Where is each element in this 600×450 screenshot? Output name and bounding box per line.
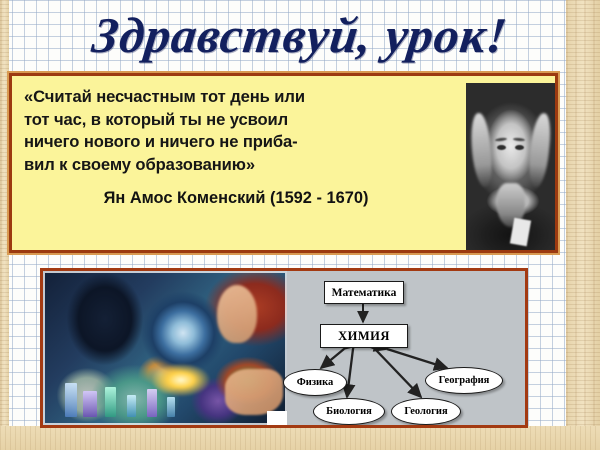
node-biologiya: Биология — [313, 398, 385, 425]
komensky-portrait-image — [466, 83, 555, 250]
chemistry-relations-diagram: Математика ХИМИЯ Физика Биология Геологи… — [287, 271, 525, 425]
node-fizika: Физика — [283, 369, 347, 396]
page-title: Здравствуй, урок! — [0, 2, 600, 68]
photo-corner-cut — [267, 411, 287, 425]
quote-line-2: тот час, в который ты не усвоил — [24, 109, 452, 132]
node-geologiya: Геология — [391, 398, 461, 425]
portrait-hair-right — [526, 112, 553, 188]
bottom-panel: Математика ХИМИЯ Физика Биология Геологи… — [40, 268, 528, 428]
arrow-chem-biologiya — [347, 349, 353, 397]
bottom-paper-strip — [0, 426, 600, 450]
portrait-collar — [510, 218, 531, 247]
node-himiya: ХИМИЯ — [320, 324, 408, 348]
slide-canvas: Здравствуй, урок! «Считай несчастным тот… — [0, 0, 600, 450]
portrait-brow-left — [495, 137, 507, 141]
quote-line-3: ничего нового и ничего не приба- — [24, 131, 452, 154]
quote-line-4-text: вил к своему образованию» — [24, 155, 255, 174]
portrait-hair-left — [468, 112, 495, 188]
portrait-eye-right — [515, 145, 524, 150]
arrow-chem-geologiya — [375, 349, 421, 397]
node-matematika: Математика — [324, 281, 404, 304]
quote-text-area: «Считай несчастным тот день или тот час,… — [12, 76, 460, 250]
photo-white-border — [43, 271, 287, 425]
science-collage-photo — [43, 271, 287, 425]
arrow-chem-geografiya — [387, 349, 447, 368]
node-geografiya: География — [425, 367, 503, 394]
portrait-eye-left — [497, 145, 506, 150]
quote-line-1-text: «Считай несчастным тот день или — [24, 86, 305, 109]
quote-line-3-text: ничего нового и ничего не приба- — [24, 131, 298, 154]
quote-block: «Считай несчастным тот день или тот час,… — [9, 73, 558, 253]
portrait-brow-right — [513, 137, 525, 141]
quote-author: Ян Амос Коменский (1592 - 1670) — [24, 189, 452, 208]
quote-line-2-text: тот час, в который ты не усвоил — [24, 109, 288, 132]
arrow-chem-fizika — [321, 349, 344, 368]
portrait-frame — [460, 76, 555, 250]
quote-line-1: «Считай несчастным тот день или — [24, 86, 452, 109]
quote-line-4: вил к своему образованию» — [24, 154, 452, 177]
